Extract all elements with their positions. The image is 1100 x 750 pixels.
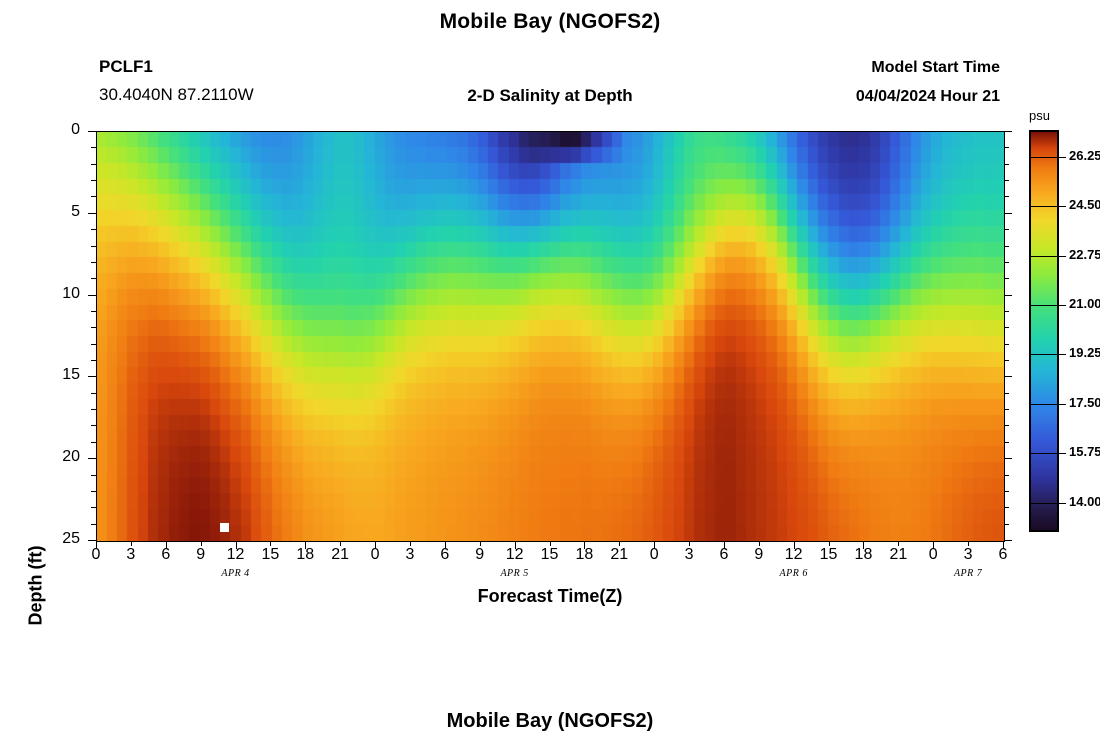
y-minor-tick xyxy=(91,196,96,197)
heatmap-canvas xyxy=(97,132,1004,541)
y-right-tick xyxy=(1004,524,1009,525)
colorbar-tick-mark xyxy=(1059,256,1066,257)
y-tick-label: 10 xyxy=(40,285,80,303)
y-right-tick xyxy=(1004,278,1009,279)
page-title: Mobile Bay (NGOFS2) xyxy=(0,10,1100,34)
y-right-tick xyxy=(1004,360,1009,361)
colorbar-tick-mark xyxy=(1059,503,1066,504)
colorbar-tick-label: 15.750 xyxy=(1069,444,1100,459)
colorbar-tick-inner xyxy=(1031,404,1057,405)
y-right-tick xyxy=(1004,540,1012,541)
station-id: PCLF1 xyxy=(99,57,153,77)
colorbar-tick-mark xyxy=(1059,157,1066,158)
colorbar-tick-inner xyxy=(1031,206,1057,207)
y-right-tick xyxy=(1004,393,1009,394)
x-day-label: APR 4 xyxy=(201,568,271,579)
y-tick-label: 20 xyxy=(40,448,80,466)
observation-marker xyxy=(220,523,229,532)
y-minor-tick xyxy=(91,164,96,165)
y-minor-tick xyxy=(91,147,96,148)
colorbar-tick-mark xyxy=(1059,404,1066,405)
colorbar-tick-inner xyxy=(1031,354,1057,355)
colorbar-tick-label: 26.250 xyxy=(1069,148,1100,163)
y-right-tick xyxy=(1004,295,1012,296)
colorbar-tick-inner xyxy=(1031,453,1057,454)
y-tick-label: 0 xyxy=(40,121,80,139)
y-right-tick xyxy=(1004,344,1009,345)
colorbar-tick-mark xyxy=(1059,206,1066,207)
colorbar-tick-inner xyxy=(1031,157,1057,158)
y-tick-label: 5 xyxy=(40,203,80,221)
y-right-tick xyxy=(1004,458,1012,459)
y-right-tick xyxy=(1004,327,1009,328)
y-right-tick xyxy=(1004,311,1009,312)
y-tick-label: 25 xyxy=(40,530,80,548)
colorbar-tick-label: 17.500 xyxy=(1069,395,1100,410)
x-day-label: APR 7 xyxy=(933,568,1003,579)
y-tick-mark xyxy=(88,540,96,541)
y-right-tick xyxy=(1004,229,1009,230)
y-minor-tick xyxy=(91,393,96,394)
y-right-tick xyxy=(1004,376,1012,377)
colorbar-tick-inner xyxy=(1031,503,1057,504)
colorbar-tick-label: 21.000 xyxy=(1069,296,1100,311)
y-right-tick xyxy=(1004,164,1009,165)
x-tick-label: 6 xyxy=(983,546,1023,564)
y-tick-label: 15 xyxy=(40,366,80,384)
y-minor-tick xyxy=(91,425,96,426)
model-start-time-value: 04/04/2024 Hour 21 xyxy=(856,88,1000,106)
y-right-tick xyxy=(1004,131,1012,132)
y-right-tick xyxy=(1004,507,1009,508)
colorbar-canvas xyxy=(1031,132,1057,530)
x-day-label: APR 5 xyxy=(480,568,550,579)
y-minor-tick xyxy=(91,409,96,410)
y-tick-mark xyxy=(88,458,96,459)
y-right-tick xyxy=(1004,425,1009,426)
y-right-tick xyxy=(1004,442,1009,443)
y-minor-tick xyxy=(91,524,96,525)
y-right-tick xyxy=(1004,246,1009,247)
colorbar-tick-label: 19.250 xyxy=(1069,345,1100,360)
y-minor-tick xyxy=(91,262,96,263)
y-tick-mark xyxy=(88,295,96,296)
colorbar-tick-inner xyxy=(1031,305,1057,306)
y-minor-tick xyxy=(91,360,96,361)
colorbar-tick-inner xyxy=(1031,256,1057,257)
y-minor-tick xyxy=(91,491,96,492)
colorbar-tick-label: 22.750 xyxy=(1069,247,1100,262)
colorbar xyxy=(1029,130,1059,532)
colorbar-unit-label: psu xyxy=(1029,108,1050,123)
y-right-tick xyxy=(1004,409,1009,410)
colorbar-tick-mark xyxy=(1059,354,1066,355)
x-day-label: APR 6 xyxy=(759,568,829,579)
y-minor-tick xyxy=(91,344,96,345)
y-right-tick xyxy=(1004,180,1009,181)
y-minor-tick xyxy=(91,246,96,247)
colorbar-tick-label: 24.500 xyxy=(1069,197,1100,212)
y-tick-mark xyxy=(88,213,96,214)
salinity-heatmap-plot xyxy=(96,131,1005,542)
x-axis-title: Forecast Time(Z) xyxy=(0,586,1100,607)
y-right-tick xyxy=(1004,475,1009,476)
footer-title: Mobile Bay (NGOFS2) xyxy=(0,710,1100,733)
model-start-time-label: Model Start Time xyxy=(871,59,1000,77)
y-tick-mark xyxy=(88,376,96,377)
y-minor-tick xyxy=(91,180,96,181)
y-minor-tick xyxy=(91,507,96,508)
y-minor-tick xyxy=(91,442,96,443)
y-minor-tick xyxy=(91,229,96,230)
y-minor-tick xyxy=(91,278,96,279)
y-right-tick xyxy=(1004,213,1012,214)
colorbar-tick-mark xyxy=(1059,453,1066,454)
y-tick-mark xyxy=(88,131,96,132)
y-minor-tick xyxy=(91,311,96,312)
colorbar-tick-mark xyxy=(1059,305,1066,306)
y-right-tick xyxy=(1004,491,1009,492)
colorbar-tick-label: 14.000 xyxy=(1069,494,1100,509)
y-minor-tick xyxy=(91,327,96,328)
y-right-tick xyxy=(1004,196,1009,197)
y-right-tick xyxy=(1004,147,1009,148)
y-minor-tick xyxy=(91,475,96,476)
y-right-tick xyxy=(1004,262,1009,263)
